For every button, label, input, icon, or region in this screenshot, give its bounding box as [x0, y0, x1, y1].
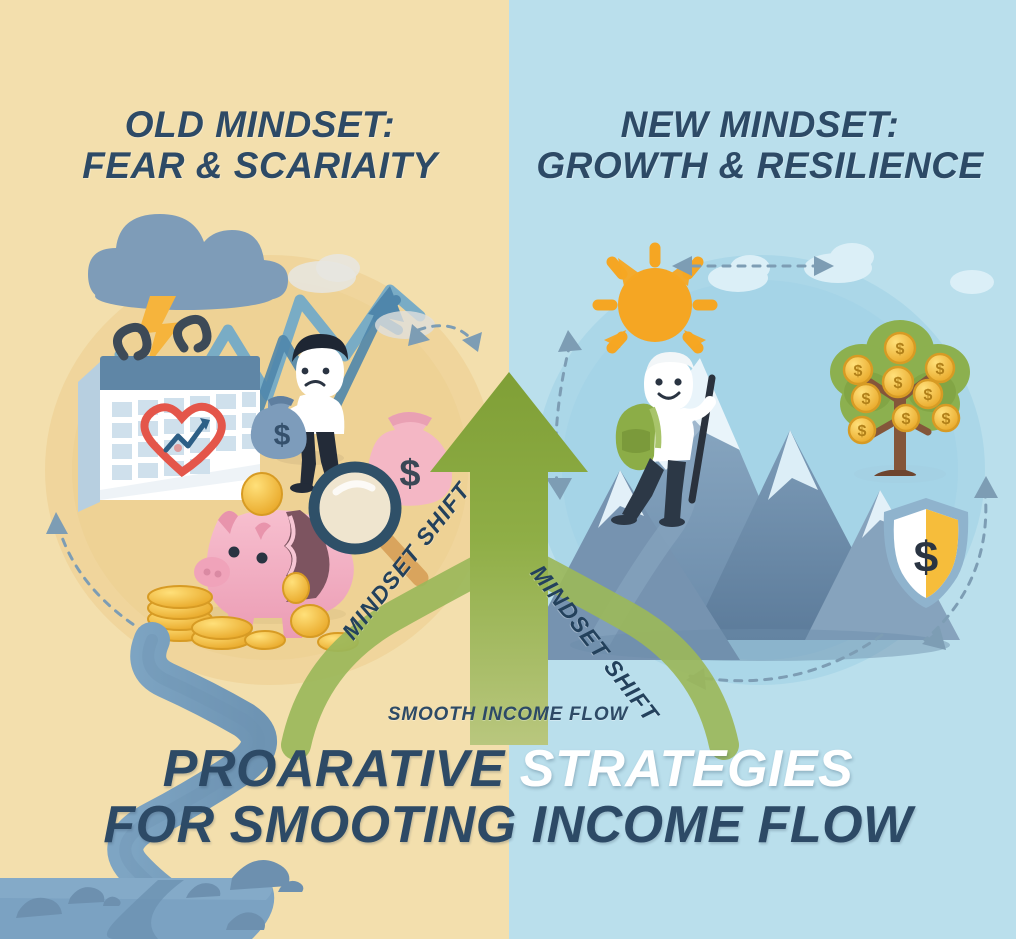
left-heading: OLD MINDSET: FEAR & SCARIAITY [40, 104, 480, 187]
main-title-line1-part1: PROARATIVE [163, 740, 520, 798]
main-title-accent-word: STRATEGIES [520, 740, 853, 798]
smooth-income-flow-label: SMOOTH INCOME FLOW [0, 704, 1016, 726]
right-heading: NEW MINDSET: GROWTH & RESILIENCE [530, 104, 990, 187]
main-title-line2: FOR SMOOTING INCOME FLOW [103, 796, 912, 854]
main-title: PROARATIVE STRATEGIES FOR SMOOTING INCOM… [0, 742, 1016, 853]
upward-arrow-icon [430, 372, 588, 745]
infographic-canvas: $ $ [0, 0, 1016, 939]
